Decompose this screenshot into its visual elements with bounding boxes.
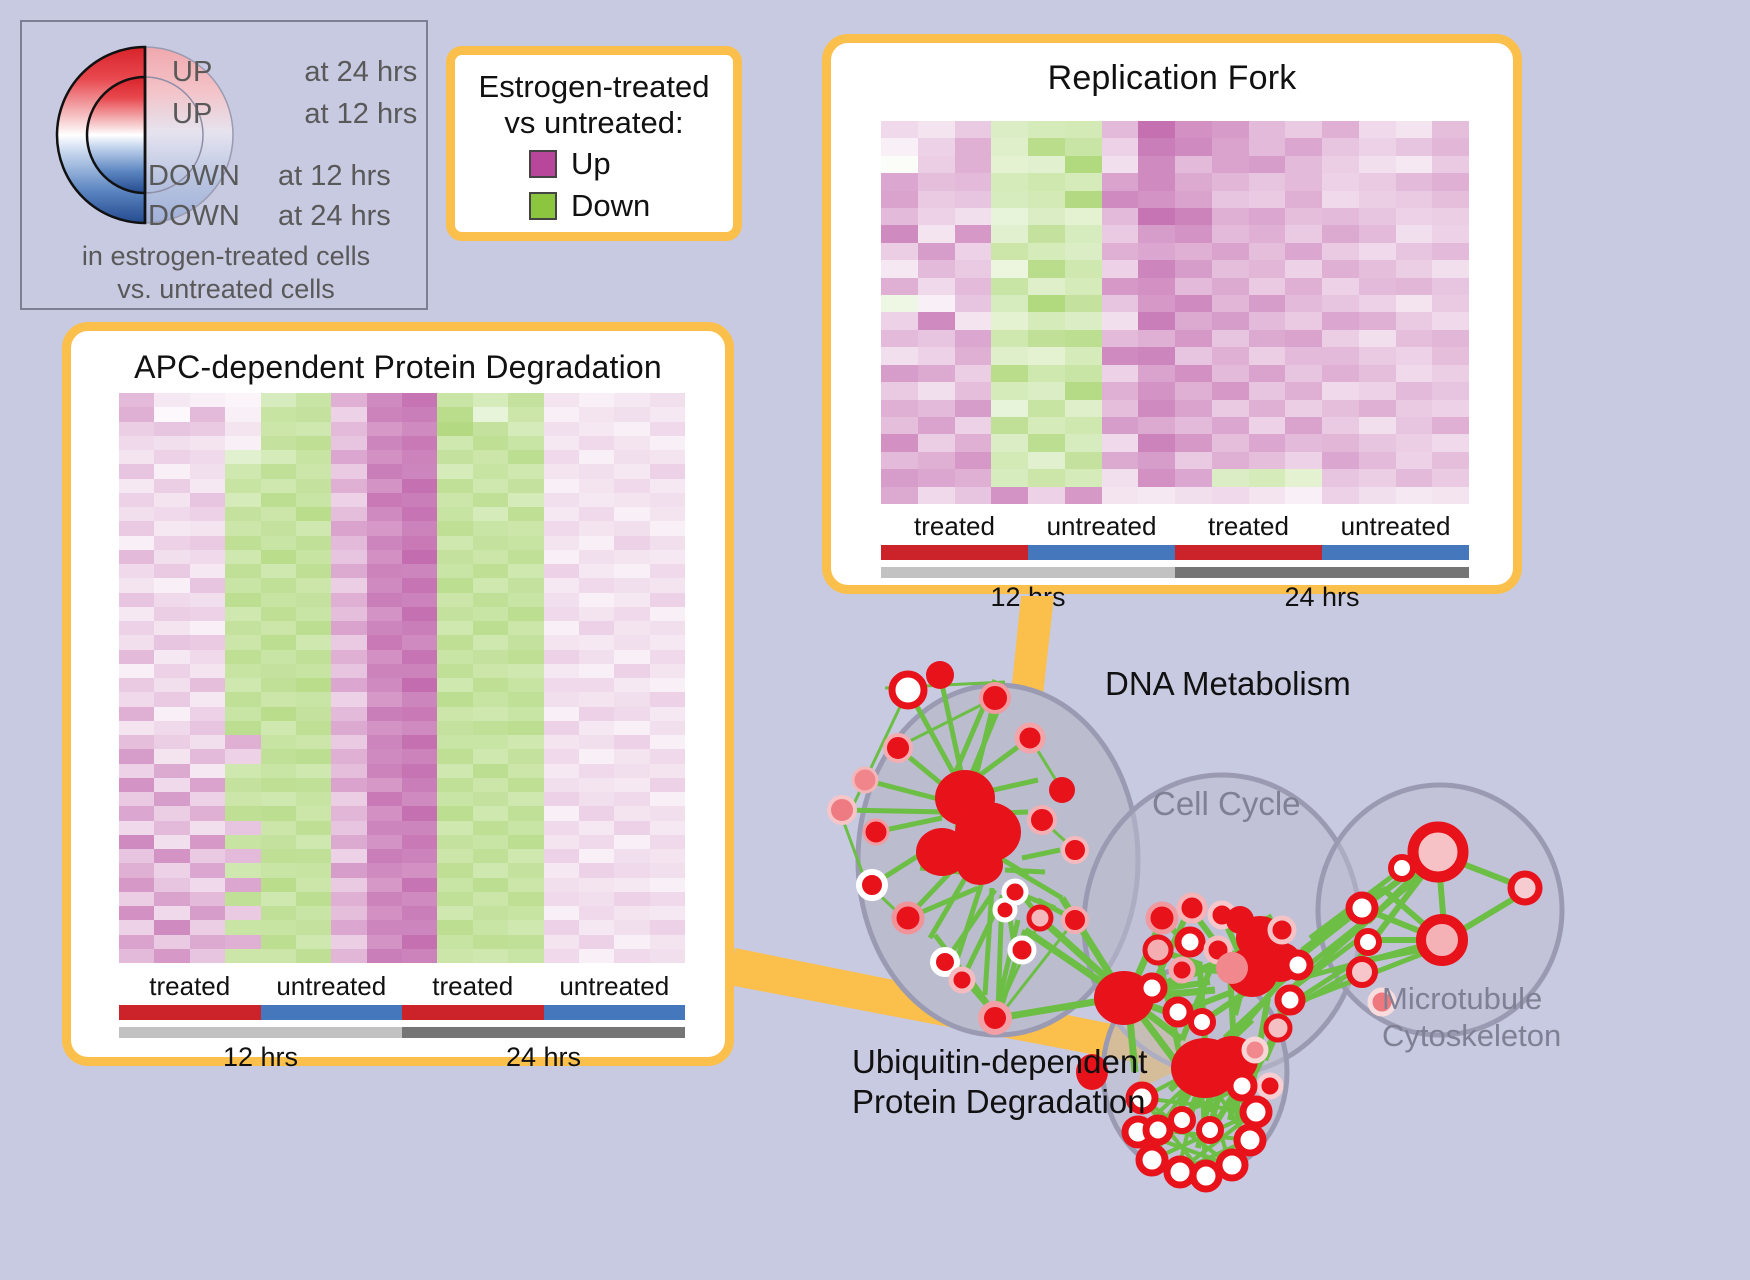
heatmap-cell bbox=[1138, 173, 1175, 190]
heatmap-cell bbox=[473, 678, 508, 692]
heatmap-cell bbox=[473, 635, 508, 649]
heatmap-cell bbox=[1028, 487, 1065, 504]
heatmap-cell bbox=[614, 650, 649, 664]
heatmap-cell bbox=[402, 863, 437, 877]
heatmap-cell bbox=[154, 536, 189, 550]
heatmap-cell bbox=[918, 208, 955, 225]
heatmap-cell bbox=[881, 312, 918, 329]
heatmap-cell bbox=[1249, 400, 1286, 417]
heatmap-cell bbox=[402, 721, 437, 735]
heatmap-cell bbox=[1175, 487, 1212, 504]
heatmap-cell bbox=[650, 892, 685, 906]
heatmap-cell bbox=[881, 173, 918, 190]
heatmap-cell bbox=[225, 863, 260, 877]
heatmap-cell bbox=[225, 650, 260, 664]
heatmap-cell bbox=[579, 878, 614, 892]
heatmap-cell bbox=[331, 863, 366, 877]
heatmap-cell bbox=[955, 208, 992, 225]
heatmap-cell bbox=[1432, 173, 1469, 190]
heatmap-cell bbox=[579, 550, 614, 564]
heatmap-cell bbox=[331, 521, 366, 535]
heatmap-cell bbox=[437, 835, 472, 849]
heatmap-cell bbox=[1249, 469, 1286, 486]
heatmap-cell bbox=[1175, 191, 1212, 208]
cluster-label-ubiquitin: Ubiquitin-dependent Protein Degradation bbox=[852, 1042, 1147, 1121]
heatmap-cell bbox=[991, 365, 1028, 382]
heatmap-cell bbox=[154, 607, 189, 621]
heatmap-cell bbox=[331, 935, 366, 949]
heatmap-cell bbox=[437, 578, 472, 592]
heatmap-cell bbox=[154, 906, 189, 920]
heatmap-cell bbox=[1028, 382, 1065, 399]
heatmap-cell bbox=[154, 578, 189, 592]
heatmap-cell bbox=[881, 365, 918, 382]
heatmap-cell bbox=[119, 764, 154, 778]
heatmap-cell bbox=[473, 536, 508, 550]
heatmap-cell bbox=[402, 792, 437, 806]
heatmap-cell bbox=[437, 464, 472, 478]
heatmap-cell bbox=[402, 778, 437, 792]
heatmap-cell bbox=[261, 550, 296, 564]
sample-group-labels: treateduntreatedtreateduntreated bbox=[881, 511, 1469, 542]
heatmap-cell bbox=[1322, 400, 1359, 417]
heatmap-cell bbox=[650, 764, 685, 778]
heatmap-cell bbox=[579, 650, 614, 664]
heatmap-cell bbox=[154, 678, 189, 692]
heatmap-cell bbox=[1285, 347, 1322, 364]
heatmap-cell bbox=[367, 664, 402, 678]
heatmap-cell bbox=[261, 578, 296, 592]
heatmap-cell bbox=[473, 721, 508, 735]
heatmap-cell bbox=[1065, 191, 1102, 208]
heatmap-cell bbox=[918, 452, 955, 469]
heatmap-cell bbox=[367, 806, 402, 820]
heatmap-cell bbox=[1138, 295, 1175, 312]
heatmap-cell bbox=[544, 920, 579, 934]
heatmap-cell bbox=[579, 764, 614, 778]
heatmap-cell bbox=[614, 764, 649, 778]
heatmap-cell bbox=[881, 330, 918, 347]
heatmap-cell bbox=[544, 422, 579, 436]
heatmap-cell bbox=[402, 407, 437, 421]
heatmap-cell bbox=[544, 635, 579, 649]
heatmap-cell bbox=[1175, 400, 1212, 417]
heatmap-cell bbox=[1432, 382, 1469, 399]
heatmap-cell bbox=[1102, 138, 1139, 155]
heatmap-cell bbox=[1028, 365, 1065, 382]
heatmap-cell bbox=[650, 735, 685, 749]
heatmap-cell bbox=[119, 692, 154, 706]
heatmap-cell bbox=[261, 849, 296, 863]
heatmap-cell bbox=[367, 578, 402, 592]
heatmap-cell bbox=[1322, 121, 1359, 138]
heatmap-cell bbox=[544, 764, 579, 778]
heatmap-cell bbox=[1249, 487, 1286, 504]
heatmap-cell bbox=[1322, 434, 1359, 451]
heatmap-cell bbox=[402, 949, 437, 963]
heatmap-cell bbox=[1102, 295, 1139, 312]
heatmap-cell bbox=[579, 521, 614, 535]
timepoint-colorbar bbox=[881, 567, 1469, 578]
heatmap-cell bbox=[154, 920, 189, 934]
heatmap-cell bbox=[1175, 121, 1212, 138]
heatmap-cell bbox=[225, 949, 260, 963]
heatmap-cell bbox=[1138, 365, 1175, 382]
heatmap-cell bbox=[154, 621, 189, 635]
heatmap-cell bbox=[955, 138, 992, 155]
heatmap-cell bbox=[1396, 260, 1433, 277]
heatmap-cell bbox=[225, 621, 260, 635]
sample-group-label: treated bbox=[402, 971, 544, 1002]
heatmap-cell bbox=[881, 400, 918, 417]
heatmap-cell bbox=[1212, 417, 1249, 434]
heatmap-cell bbox=[1396, 278, 1433, 295]
heatmap-cell bbox=[437, 821, 472, 835]
sample-group-swatch bbox=[881, 545, 1028, 560]
microtubule-line1: Microtubule bbox=[1382, 980, 1561, 1017]
heatmap-cell bbox=[119, 878, 154, 892]
heatmap-cell bbox=[331, 920, 366, 934]
heatmap-cell bbox=[1396, 434, 1433, 451]
heatmap-cell bbox=[918, 121, 955, 138]
heatmap-cell bbox=[331, 479, 366, 493]
legend-word: DOWN bbox=[148, 160, 240, 193]
microtubule-line2: Cytoskeleton bbox=[1382, 1017, 1561, 1054]
heatmap-cell bbox=[955, 295, 992, 312]
heatmap-cell bbox=[1359, 452, 1396, 469]
heatmap-cell bbox=[473, 692, 508, 706]
heatmap-cell bbox=[1249, 382, 1286, 399]
heatmap-cell bbox=[473, 436, 508, 450]
heatmap-cell bbox=[367, 678, 402, 692]
heatmap-cell bbox=[1359, 156, 1396, 173]
heatmap-cell bbox=[190, 607, 225, 621]
heatmap-cell bbox=[614, 835, 649, 849]
heatmap-cell bbox=[402, 878, 437, 892]
heatmap-cell bbox=[190, 450, 225, 464]
heatmap-cell bbox=[154, 593, 189, 607]
panel-replication-fork: Replication Fork treateduntreatedtreated… bbox=[822, 34, 1522, 594]
heatmap-cell bbox=[1065, 138, 1102, 155]
legend-row-down-24: DOWN at 24 hrs bbox=[148, 200, 391, 233]
heatmap-cell bbox=[1175, 312, 1212, 329]
sample-group-label: treated bbox=[119, 971, 261, 1002]
heatmap-cell bbox=[402, 806, 437, 820]
heatmap-cell bbox=[119, 935, 154, 949]
heatmap-cell bbox=[1175, 278, 1212, 295]
heatmap-cell bbox=[614, 707, 649, 721]
heatmap-cell bbox=[1175, 243, 1212, 260]
heatmap-cell bbox=[296, 792, 331, 806]
heatmap-cell bbox=[119, 892, 154, 906]
heatmap-cell bbox=[579, 792, 614, 806]
heatmap-cell bbox=[1028, 417, 1065, 434]
heatmap-cell bbox=[367, 949, 402, 963]
heatmap-cell bbox=[508, 792, 543, 806]
timepoint-label: 24 hrs bbox=[402, 1042, 685, 1073]
heatmap-cell bbox=[367, 621, 402, 635]
heatmap-cell bbox=[119, 422, 154, 436]
heatmap-cell bbox=[296, 678, 331, 692]
heatmap-cell bbox=[991, 452, 1028, 469]
heatmap-cell bbox=[881, 156, 918, 173]
heatmap-cell bbox=[154, 849, 189, 863]
sample-group-swatch bbox=[1028, 545, 1175, 560]
heatmap-cell bbox=[881, 260, 918, 277]
heatmap-cell bbox=[1138, 260, 1175, 277]
heatmap-cell bbox=[261, 735, 296, 749]
heatmap-cell bbox=[1396, 173, 1433, 190]
heatmap-cell bbox=[955, 434, 992, 451]
heatmap-cell bbox=[508, 550, 543, 564]
heatmap-cell bbox=[918, 138, 955, 155]
heatmap-cell bbox=[508, 536, 543, 550]
heatmap-cell bbox=[473, 735, 508, 749]
heatmap-cell bbox=[1102, 121, 1139, 138]
heatmap-cell bbox=[437, 450, 472, 464]
heatmap-cell bbox=[991, 295, 1028, 312]
heatmap-cell bbox=[154, 664, 189, 678]
heatmap-cell bbox=[579, 464, 614, 478]
timepoint-swatch bbox=[881, 567, 1175, 578]
heatmap-cell bbox=[1249, 208, 1286, 225]
heatmap-cell bbox=[296, 550, 331, 564]
heatmap-cell bbox=[190, 521, 225, 535]
heatmap-cell bbox=[544, 735, 579, 749]
heatmap-cell bbox=[331, 692, 366, 706]
heatmap-cell bbox=[367, 792, 402, 806]
heatmap-cell bbox=[154, 479, 189, 493]
heatmap-cell bbox=[881, 452, 918, 469]
heatmap-cell bbox=[154, 464, 189, 478]
heatmap-cell bbox=[955, 121, 992, 138]
heatmap-cell bbox=[1396, 243, 1433, 260]
heatmap-cell bbox=[1432, 417, 1469, 434]
heatmap-cell bbox=[955, 225, 992, 242]
heatmap-cell bbox=[1212, 469, 1249, 486]
heatmap-cell bbox=[190, 621, 225, 635]
heatmap-cell bbox=[473, 849, 508, 863]
heatmap-cell bbox=[579, 607, 614, 621]
heatmap-cell bbox=[579, 692, 614, 706]
heatmap-cell bbox=[1175, 347, 1212, 364]
heatmap-cell bbox=[1212, 312, 1249, 329]
cluster-label-dna-metabolism: DNA Metabolism bbox=[1105, 665, 1351, 703]
heatmap-cell bbox=[1359, 487, 1396, 504]
sample-group-labels: treateduntreatedtreateduntreated bbox=[119, 971, 685, 1002]
heatmap-cell bbox=[367, 550, 402, 564]
heatmap-cell bbox=[154, 749, 189, 763]
heatmap-cell bbox=[614, 949, 649, 963]
heatmap-cell bbox=[508, 578, 543, 592]
heatmap-cell bbox=[650, 479, 685, 493]
up-swatch-icon bbox=[529, 150, 557, 178]
heatmap-cell bbox=[1249, 225, 1286, 242]
heatmap-cell bbox=[154, 949, 189, 963]
heatmap-cell bbox=[1212, 365, 1249, 382]
heatmap-cell bbox=[261, 935, 296, 949]
heatmap-cell bbox=[614, 393, 649, 407]
heatmap-cell bbox=[154, 863, 189, 877]
heatmap-cell bbox=[614, 479, 649, 493]
heatmap-cell bbox=[1138, 417, 1175, 434]
heatmap-cell bbox=[1432, 469, 1469, 486]
heatmap-cell bbox=[614, 806, 649, 820]
heatmap-cell bbox=[614, 778, 649, 792]
heatmap-cell bbox=[1102, 469, 1139, 486]
heatmap-cell bbox=[296, 635, 331, 649]
heatmap-cell bbox=[1396, 121, 1433, 138]
heatmap-cell bbox=[1359, 400, 1396, 417]
heatmap-cell bbox=[367, 692, 402, 706]
heatmap-cell bbox=[955, 487, 992, 504]
heatmap-cell bbox=[331, 635, 366, 649]
heatmap-cell bbox=[1249, 156, 1286, 173]
heatmap-cell bbox=[579, 821, 614, 835]
heatmap-cell bbox=[437, 607, 472, 621]
heatmap-cell bbox=[402, 892, 437, 906]
heatmap-cell bbox=[402, 707, 437, 721]
heatmap-cell bbox=[650, 707, 685, 721]
heatmap-cell bbox=[1065, 487, 1102, 504]
heatmap-cell bbox=[367, 607, 402, 621]
heatmap-cell bbox=[1396, 382, 1433, 399]
heatmap-cell bbox=[881, 121, 918, 138]
heatmap-cell bbox=[1396, 191, 1433, 208]
heatmap-cell bbox=[296, 749, 331, 763]
heatmap-cell bbox=[225, 920, 260, 934]
heatmap-cell bbox=[579, 892, 614, 906]
heatmap-cell bbox=[261, 906, 296, 920]
timepoint-label: 12 hrs bbox=[881, 582, 1175, 613]
heatmap-cell bbox=[955, 173, 992, 190]
heatmap-cell bbox=[1065, 452, 1102, 469]
heatmap-cell bbox=[1432, 225, 1469, 242]
heatmap-cell bbox=[1285, 156, 1322, 173]
heatmap-cell bbox=[1175, 434, 1212, 451]
heatmap-cell bbox=[119, 806, 154, 820]
heatmap-cell bbox=[579, 707, 614, 721]
heatmap-cell bbox=[614, 536, 649, 550]
heatmap-cell bbox=[261, 778, 296, 792]
heatmap-cell bbox=[1322, 417, 1359, 434]
pathway-network-graph bbox=[790, 620, 1750, 1280]
heatmap-cell bbox=[650, 493, 685, 507]
heatmap-cell bbox=[614, 407, 649, 421]
heatmap-cell bbox=[881, 191, 918, 208]
heatmap-cell bbox=[1065, 400, 1102, 417]
heatmap-cell bbox=[367, 892, 402, 906]
heatmap-cell bbox=[544, 607, 579, 621]
heatmap-cell bbox=[1432, 434, 1469, 451]
heatmap-cell bbox=[544, 721, 579, 735]
heatmap-cell bbox=[1285, 382, 1322, 399]
heatmap-cell bbox=[437, 692, 472, 706]
heatmap-cell bbox=[473, 507, 508, 521]
heatmap-cell bbox=[1285, 191, 1322, 208]
heatmap-cell bbox=[473, 778, 508, 792]
heatmap-cell bbox=[154, 735, 189, 749]
heatmap-cell bbox=[1102, 400, 1139, 417]
heatmap-cell bbox=[225, 393, 260, 407]
heatmap-cell bbox=[1322, 243, 1359, 260]
heatmap-cell bbox=[1102, 278, 1139, 295]
heatmap-cell bbox=[190, 479, 225, 493]
heatmap-cell bbox=[650, 949, 685, 963]
heatmap-cell bbox=[367, 507, 402, 521]
heatmap-cell bbox=[614, 550, 649, 564]
heatmap-cell bbox=[367, 635, 402, 649]
heatmap-cell bbox=[367, 493, 402, 507]
heatmap-cell bbox=[508, 493, 543, 507]
heatmap-cell bbox=[579, 778, 614, 792]
heatmap-cell bbox=[1285, 365, 1322, 382]
legend-word: DOWN bbox=[148, 200, 240, 233]
heatmap-cell bbox=[1359, 191, 1396, 208]
heatmap-cell bbox=[544, 479, 579, 493]
heatmap-cell bbox=[1285, 225, 1322, 242]
sample-group-label: untreated bbox=[1322, 511, 1469, 542]
heatmap-cell bbox=[296, 578, 331, 592]
heatmap-cell bbox=[261, 479, 296, 493]
heatmap-cell bbox=[508, 778, 543, 792]
heatmap-cell bbox=[331, 407, 366, 421]
heatmap-cell bbox=[367, 735, 402, 749]
heatmap-cell bbox=[154, 550, 189, 564]
heatmap-cell bbox=[991, 469, 1028, 486]
heatmap-cell bbox=[473, 835, 508, 849]
heatmap-cell bbox=[508, 650, 543, 664]
heatmap-cell bbox=[261, 878, 296, 892]
heatmap-cell bbox=[296, 735, 331, 749]
heatmap-cell bbox=[437, 564, 472, 578]
heatmap-cell bbox=[614, 920, 649, 934]
heatmap-cell bbox=[614, 664, 649, 678]
heatmap-cell bbox=[190, 764, 225, 778]
heatmap-cell bbox=[1285, 138, 1322, 155]
heatmap-cell bbox=[579, 906, 614, 920]
heatmap-cell bbox=[261, 920, 296, 934]
heatmap-cell bbox=[119, 735, 154, 749]
down-swatch-icon bbox=[529, 192, 557, 220]
heatmap-cell bbox=[1285, 434, 1322, 451]
heatmap-cell bbox=[473, 906, 508, 920]
heatmap-cell bbox=[473, 578, 508, 592]
heatmap-cell bbox=[154, 821, 189, 835]
heatmap-cell bbox=[579, 849, 614, 863]
heatmap-cell bbox=[1065, 469, 1102, 486]
heatmap-cell bbox=[119, 650, 154, 664]
heatmap-cell bbox=[508, 479, 543, 493]
heatmap-cell bbox=[579, 635, 614, 649]
updown-title-line2: vs untreated: bbox=[455, 105, 733, 141]
heatmap-cell bbox=[331, 821, 366, 835]
heatmap-cell bbox=[1322, 208, 1359, 225]
heatmap-cell bbox=[579, 536, 614, 550]
heatmap-cell bbox=[1212, 295, 1249, 312]
heatmap-cell bbox=[296, 393, 331, 407]
heatmap-cell bbox=[1285, 121, 1322, 138]
heatmap-cell bbox=[650, 806, 685, 820]
heatmap-cell bbox=[190, 422, 225, 436]
heatmap-cell bbox=[119, 835, 154, 849]
heatmap-cell bbox=[402, 536, 437, 550]
heatmap-cell bbox=[1396, 208, 1433, 225]
heatmap-cell bbox=[544, 707, 579, 721]
heatmap-cell bbox=[331, 422, 366, 436]
heatmap-cell bbox=[1102, 434, 1139, 451]
heatmap-cell bbox=[650, 721, 685, 735]
